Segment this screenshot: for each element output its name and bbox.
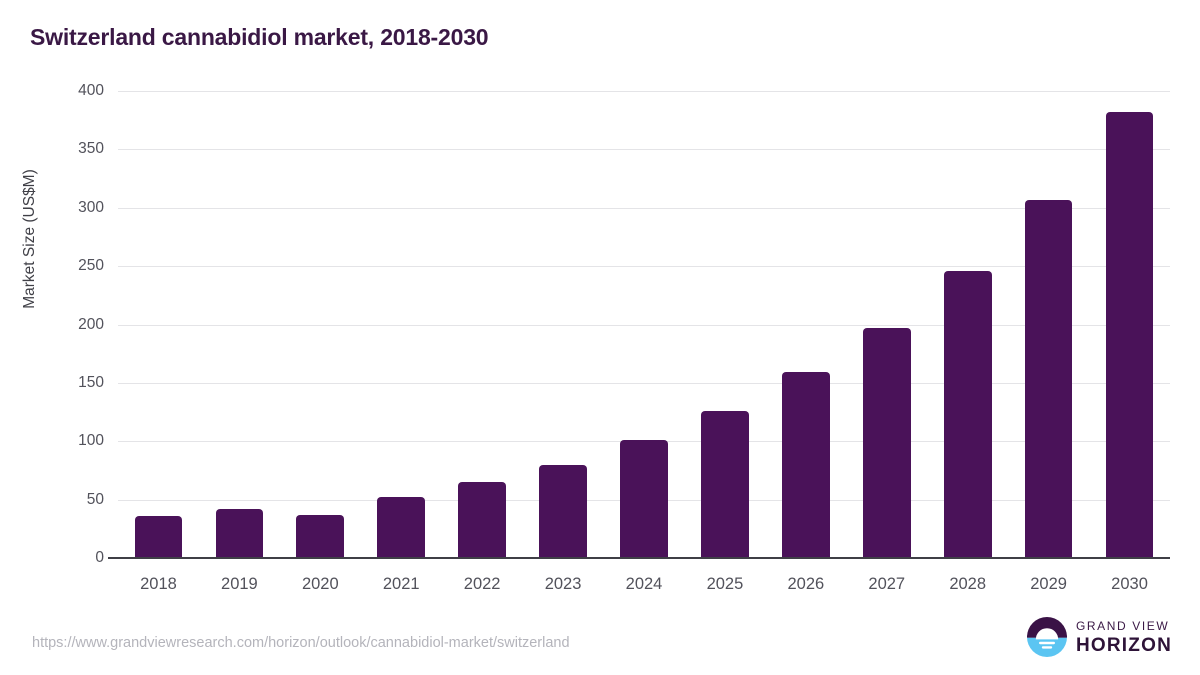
page-title: Switzerland cannabidiol market, 2018-203… bbox=[30, 24, 488, 51]
grand-view-horizon-logo[interactable]: GRAND VIEW HORIZON bbox=[1027, 617, 1172, 657]
x-axis-tick-label: 2026 bbox=[787, 575, 824, 594]
gridline bbox=[118, 325, 1170, 326]
x-axis-tick-label: 2020 bbox=[302, 575, 339, 594]
x-axis-tick-label: 2019 bbox=[221, 575, 258, 594]
y-axis-title: Market Size (US$M) bbox=[21, 139, 39, 339]
logo-line-horizon: HORIZON bbox=[1076, 636, 1172, 655]
y-axis-tick-label: 250 bbox=[44, 257, 104, 275]
logo-text: GRAND VIEW HORIZON bbox=[1076, 620, 1172, 655]
x-axis-tick-label: 2021 bbox=[383, 575, 420, 594]
x-axis-tick-label: 2029 bbox=[1030, 575, 1067, 594]
gridline bbox=[118, 149, 1170, 150]
bar-2024[interactable] bbox=[620, 440, 668, 558]
x-axis-tick-label: 2018 bbox=[140, 575, 177, 594]
x-axis-tick-label: 2028 bbox=[949, 575, 986, 594]
source-url[interactable]: https://www.grandviewresearch.com/horizo… bbox=[32, 635, 570, 651]
x-axis-tick-label: 2025 bbox=[707, 575, 744, 594]
y-axis-tick-label: 350 bbox=[44, 140, 104, 158]
bar-2030[interactable] bbox=[1106, 112, 1154, 558]
bar-2021[interactable] bbox=[377, 497, 425, 558]
bar-2026[interactable] bbox=[782, 372, 830, 558]
x-axis-tick-label: 2024 bbox=[626, 575, 663, 594]
gridline bbox=[118, 266, 1170, 267]
bar-2022[interactable] bbox=[458, 482, 506, 558]
y-axis-tick-label: 50 bbox=[44, 491, 104, 509]
chart-canvas: Switzerland cannabidiol market, 2018-203… bbox=[0, 0, 1200, 675]
bar-2019[interactable] bbox=[216, 509, 264, 558]
bar-2029[interactable] bbox=[1025, 200, 1073, 558]
bar-2020[interactable] bbox=[296, 515, 344, 558]
gridline bbox=[118, 383, 1170, 384]
y-axis-tick-label: 200 bbox=[44, 316, 104, 334]
bar-2028[interactable] bbox=[944, 271, 992, 558]
y-axis-tick-label: 0 bbox=[44, 549, 104, 567]
x-axis-tick-label: 2027 bbox=[868, 575, 905, 594]
bar-2027[interactable] bbox=[863, 328, 911, 558]
logo-line-grand-view: GRAND VIEW bbox=[1076, 620, 1172, 632]
x-axis-line bbox=[108, 557, 1170, 559]
bar-2025[interactable] bbox=[701, 411, 749, 558]
bar-2018[interactable] bbox=[135, 516, 183, 558]
gridline bbox=[118, 91, 1170, 92]
y-axis-tick-label: 400 bbox=[44, 82, 104, 100]
y-axis-tick-label: 100 bbox=[44, 432, 104, 450]
y-axis-tick-label: 150 bbox=[44, 374, 104, 392]
x-axis-tick-label: 2030 bbox=[1111, 575, 1148, 594]
x-axis-tick-label: 2023 bbox=[545, 575, 582, 594]
y-axis-tick-label: 300 bbox=[44, 199, 104, 217]
gridline bbox=[118, 208, 1170, 209]
horizon-circle-icon bbox=[1027, 617, 1067, 657]
x-axis-tick-label: 2022 bbox=[464, 575, 501, 594]
bar-2023[interactable] bbox=[539, 465, 587, 558]
plot-area: 050100150200250300350400 201820192020202… bbox=[118, 91, 1170, 558]
